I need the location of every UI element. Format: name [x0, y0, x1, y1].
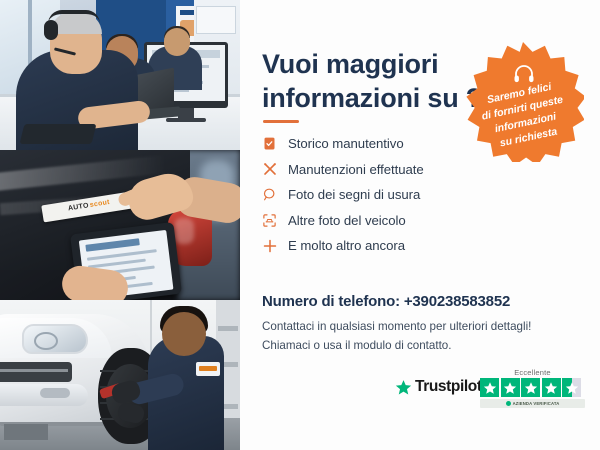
trustpilot-star-icon: [395, 379, 412, 396]
feature-item-other-photos: Altre foto del veicolo: [262, 208, 482, 234]
mechanic-head: [162, 312, 206, 356]
verified-badge-text: AZIENDA VERIFICATA: [513, 401, 560, 406]
vehicle-inspection-tablet-photo: AUTO scout: [0, 150, 240, 300]
car-grille: [0, 362, 72, 382]
car-fog-light: [40, 388, 70, 398]
page-title-line-2: informazioni su ?: [262, 83, 482, 113]
call-center-agents-photo: [0, 0, 240, 150]
trustpilot-rating-label: Eccellente: [480, 368, 585, 377]
contact-subtext-line-1: Contattaci in qualsiasi momento per ulte…: [262, 318, 552, 337]
verified-check-icon: [506, 401, 511, 406]
trustpilot-verified-badge: AZIENDA VERIFICATA: [480, 399, 585, 408]
trustpilot-rating: Eccellente AZIENDA VERIFICATA: [480, 368, 585, 408]
feature-item-more: E molto altro ancora: [262, 233, 482, 259]
phone-label: Numero di telefono:: [262, 293, 400, 310]
vehicle-info-advertisement: AUTO scout: [0, 0, 600, 450]
car-headlight: [22, 324, 88, 354]
feature-item-wear-photos: Foto dei segni di usura: [262, 182, 482, 208]
tablet-screen-header: [85, 238, 139, 252]
feature-item-maintenance-performed: Manutenzioni effettuate: [262, 157, 482, 183]
title-divider: [263, 120, 299, 123]
car-scan-frame-icon: [262, 213, 288, 228]
trustpilot-wordmark: Trustpilot: [415, 378, 482, 396]
feature-list: Storico manutentivo Manutenzioni effettu…: [262, 131, 482, 259]
page-title: Vuoi maggiori informazioni su ?: [262, 48, 492, 115]
trustpilot-widget[interactable]: Trustpilot Eccellente AZIENDA VERIFICATA: [395, 368, 585, 416]
trustpilot-star-row: [480, 378, 585, 397]
wall-shelf: [196, 6, 236, 34]
sticker-text-primary: AUTO: [68, 202, 90, 212]
rating-star: [501, 378, 520, 397]
rating-star: [480, 378, 499, 397]
headset-earpiece: [44, 20, 58, 40]
contact-subtext: Contattaci in qualsiasi momento per ulte…: [262, 318, 552, 356]
crossed-tools-icon: [262, 161, 288, 177]
feature-item-maintenance-history: Storico manutentivo: [262, 131, 482, 157]
mechanic-wheel-inspection-photo: [0, 300, 240, 450]
feature-label: Altre foto del veicolo: [288, 213, 406, 228]
contact-subtext-line-2: Chiamaci o usa il modulo di contatto.: [262, 337, 552, 356]
feature-label: Foto dei segni di usura: [288, 187, 420, 202]
plus-icon: [262, 238, 288, 254]
tablet-screen-line: [87, 249, 157, 261]
rating-star: [521, 378, 540, 397]
phone-number[interactable]: +390238583852: [404, 293, 510, 310]
mechanic-uniform-badge: [196, 362, 220, 376]
monitor-base: [166, 118, 206, 122]
rating-star-partial: [562, 378, 581, 397]
page-title-line-1: Vuoi maggiori: [262, 49, 438, 79]
feature-label: E molto altro ancora: [288, 238, 405, 253]
feature-label: Manutenzioni effettuate: [288, 162, 424, 177]
feature-label: Storico manutentivo: [288, 136, 404, 151]
content-panel: Vuoi maggiori informazioni su ? Saremo f…: [240, 0, 600, 450]
background-agent-two-head: [164, 28, 190, 56]
trustpilot-logo: Trustpilot: [395, 378, 482, 396]
phone-number-line: Numero di telefono: +390238583852: [262, 293, 510, 310]
checklist-document-icon: [262, 136, 288, 151]
desk-tablet: [20, 124, 97, 144]
rating-star: [542, 378, 561, 397]
magnifier-bubble-icon: [262, 187, 288, 202]
photo-column: AUTO scout: [0, 0, 240, 450]
sticker-text-accent: scout: [89, 199, 110, 209]
vehicle-lift-post: [4, 424, 48, 440]
